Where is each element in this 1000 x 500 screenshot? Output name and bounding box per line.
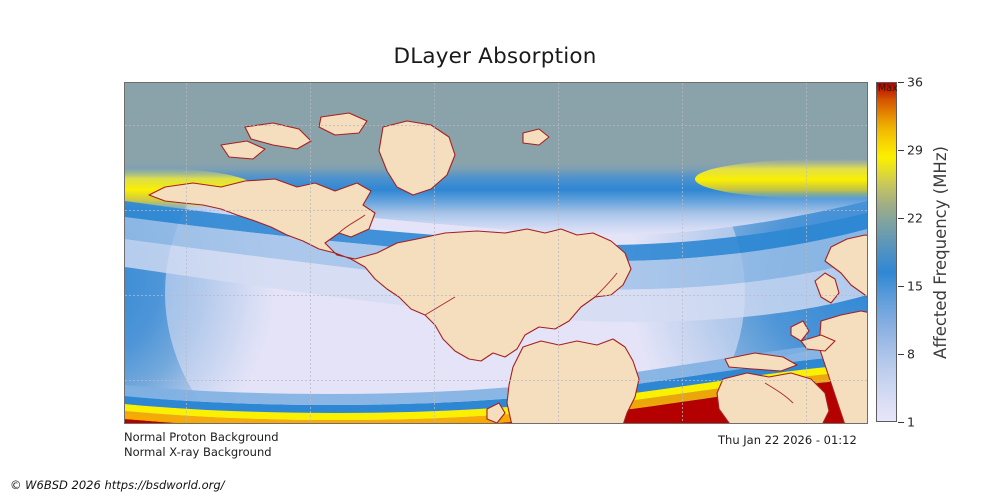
colorbar-gradient (876, 82, 897, 422)
gridline-vertical (310, 83, 311, 423)
gridline-horizontal (125, 295, 867, 296)
colorbar[interactable]: Max 1 8 15 22 29 36 (876, 82, 897, 422)
gridline-horizontal (125, 210, 867, 211)
gridline-horizontal (125, 380, 867, 381)
colorbar-tick-label: 36 (907, 75, 923, 90)
colorbar-tick (898, 150, 904, 151)
proton-background-note: Normal Proton Background (124, 430, 279, 444)
colorbar-axis-label-text: Affected Frequency (MHz) (931, 146, 950, 359)
timestamp-label: Thu Jan 22 2026 - 01:12 (718, 433, 857, 447)
gridline-vertical (434, 83, 435, 423)
colorbar-tick (898, 422, 904, 423)
colorbar-tick-label: 29 (907, 143, 923, 158)
copyright-label: © W6BSD 2026 https://bsdworld.org/ (10, 478, 225, 492)
gridline-vertical (558, 83, 559, 423)
page-title: DLayer Absorption (0, 44, 990, 69)
gridline-vertical (186, 83, 187, 423)
colorbar-tick-label: 15 (907, 279, 923, 294)
map-canvas (125, 83, 867, 423)
gridline-vertical (806, 83, 807, 423)
absorption-map-svg (125, 83, 867, 423)
colorbar-axis-label: Affected Frequency (MHz) (929, 82, 951, 422)
colorbar-tick (898, 82, 904, 83)
gridline-horizontal (125, 125, 867, 126)
colorbar-tick-label: 1 (907, 415, 915, 430)
colorbar-tick (898, 354, 904, 355)
map-plot-area[interactable] (124, 82, 868, 424)
gridline-vertical (682, 83, 683, 423)
colorbar-tick (898, 286, 904, 287)
colorbar-tick (898, 218, 904, 219)
colorbar-tick-label: 8 (907, 347, 915, 362)
xray-background-note: Normal X-ray Background (124, 445, 272, 459)
colorbar-tick-label: 22 (907, 211, 923, 226)
colorbar-max-label: Max (877, 83, 898, 94)
